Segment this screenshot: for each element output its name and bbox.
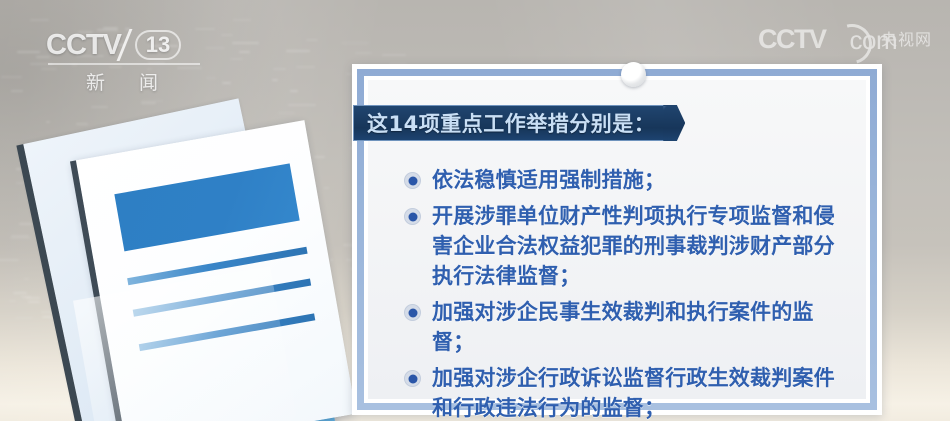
logo-divider — [48, 63, 200, 65]
watermark-brand: CCTV — [758, 26, 826, 53]
bullet-dot-icon — [404, 208, 421, 225]
document-text-line — [139, 313, 316, 351]
bullet-item: 依法稳慎适用强制措施； — [404, 165, 850, 195]
cctv-wordmark: CCTV — [46, 29, 121, 62]
bullet-item: 开展涉罪单位财产性判项执行专项监督和侵害企业合法权益犯罪的刑事裁判涉财产部分执行… — [404, 201, 850, 291]
logo-top-row: CCTV 13 — [46, 28, 206, 62]
panel-title-text: 这14项重点工作举措分别是： — [367, 108, 655, 138]
bullet-item-label: 开展涉罪单位财产性判项执行专项监督和侵害企业合法权益犯罪的刑事裁判涉财产部分执行… — [432, 201, 850, 291]
bullet-item: 加强对涉企民事生效裁判和执行案件的监督； — [404, 297, 850, 357]
document-header-block — [114, 163, 299, 251]
bullet-dot-icon — [404, 370, 421, 387]
banner-body: 这14项重点工作举措分别是： — [353, 105, 664, 141]
bullet-item-label: 加强对涉企行政诉讼监督行政生效裁判案件和行政违法行为的监督； — [432, 363, 850, 421]
bullet-dot-icon — [404, 172, 421, 189]
bullet-item: 加强对涉企行政诉讼监督行政生效裁判案件和行政违法行为的监督； — [404, 363, 850, 421]
banner-arrow-icon — [663, 105, 685, 141]
channel-sub-label: 新 闻 — [46, 68, 198, 95]
document-sheet-front — [76, 120, 356, 421]
document-stack-illustration — [34, 96, 364, 421]
broadcast-frame: CCTV 13 新 闻 CCTV com 央视网 — [0, 0, 950, 421]
panel-title-banner: 这14项重点工作举措分别是： — [353, 105, 685, 141]
panel-knob-decoration — [621, 62, 646, 87]
bullet-item-label: 加强对涉企民事生效裁判和执行案件的监督； — [432, 297, 850, 357]
document-text-line — [133, 279, 311, 317]
document-text-line — [127, 247, 307, 285]
bullet-dot-icon — [404, 304, 421, 321]
watermark-cn-name: 央视网 — [881, 26, 932, 50]
cctv13-channel-logo: CCTV 13 新 闻 — [46, 28, 206, 90]
bullet-item-label: 依法稳慎适用强制措施； — [432, 165, 665, 195]
measures-bullet-list: 依法稳慎适用强制措施；开展涉罪单位财产性判项执行专项监督和侵害企业合法权益犯罪的… — [404, 165, 850, 421]
